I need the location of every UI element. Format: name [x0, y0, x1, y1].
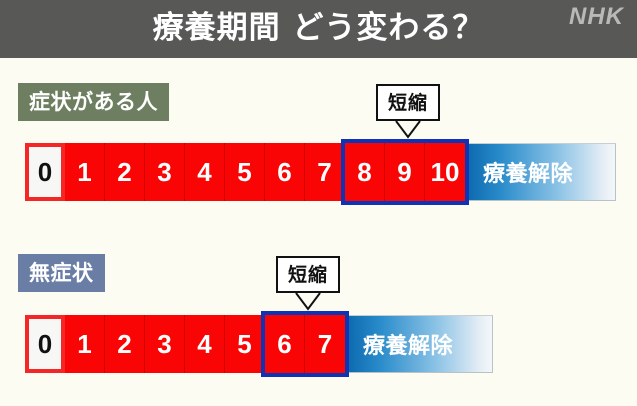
day-cell-2: 2	[105, 143, 145, 201]
callout-label-symptomatic: 短縮	[376, 84, 440, 121]
callout-tail-icon	[395, 121, 421, 139]
section-label-asymptomatic: 無症状	[18, 254, 105, 292]
day-cell-1: 1	[65, 143, 105, 201]
header-bar: 療養期間 どう変わる？ NHK	[0, 0, 637, 58]
release-label-symptomatic: 療養解除	[469, 156, 573, 188]
day-cell-2: 2	[105, 315, 145, 373]
day-cell-3: 3	[145, 143, 185, 201]
day-cell-5: 5	[225, 143, 265, 201]
day-cell-3: 3	[145, 315, 185, 373]
callout-symptomatic: 短縮	[376, 84, 440, 121]
day-cell-1: 1	[65, 315, 105, 373]
section-label-symptomatic: 症状がある人	[18, 83, 169, 121]
page-title: 療養期間 どう変わる？	[0, 0, 637, 58]
callout-tail-icon	[295, 293, 321, 311]
day-cell-6: 6	[265, 315, 305, 373]
nhk-logo: NHK	[569, 3, 624, 31]
day-cell-0: 0	[25, 315, 65, 373]
release-label-asymptomatic: 療養解除	[349, 328, 453, 360]
day-cell-10: 10	[425, 143, 465, 201]
day-cell-6: 6	[265, 143, 305, 201]
day-cell-9: 9	[385, 143, 425, 201]
release-panel-symptomatic: 療養解除	[469, 143, 616, 201]
day-cell-0: 0	[25, 143, 65, 201]
callout-label-asymptomatic: 短縮	[276, 256, 340, 293]
day-cell-7: 7	[305, 315, 345, 373]
day-cell-4: 4	[185, 143, 225, 201]
release-panel-asymptomatic: 療養解除	[349, 315, 493, 373]
callout-asymptomatic: 短縮	[276, 256, 340, 293]
day-cell-8: 8	[345, 143, 385, 201]
day-cell-5: 5	[225, 315, 265, 373]
day-cell-4: 4	[185, 315, 225, 373]
day-cell-7: 7	[305, 143, 345, 201]
